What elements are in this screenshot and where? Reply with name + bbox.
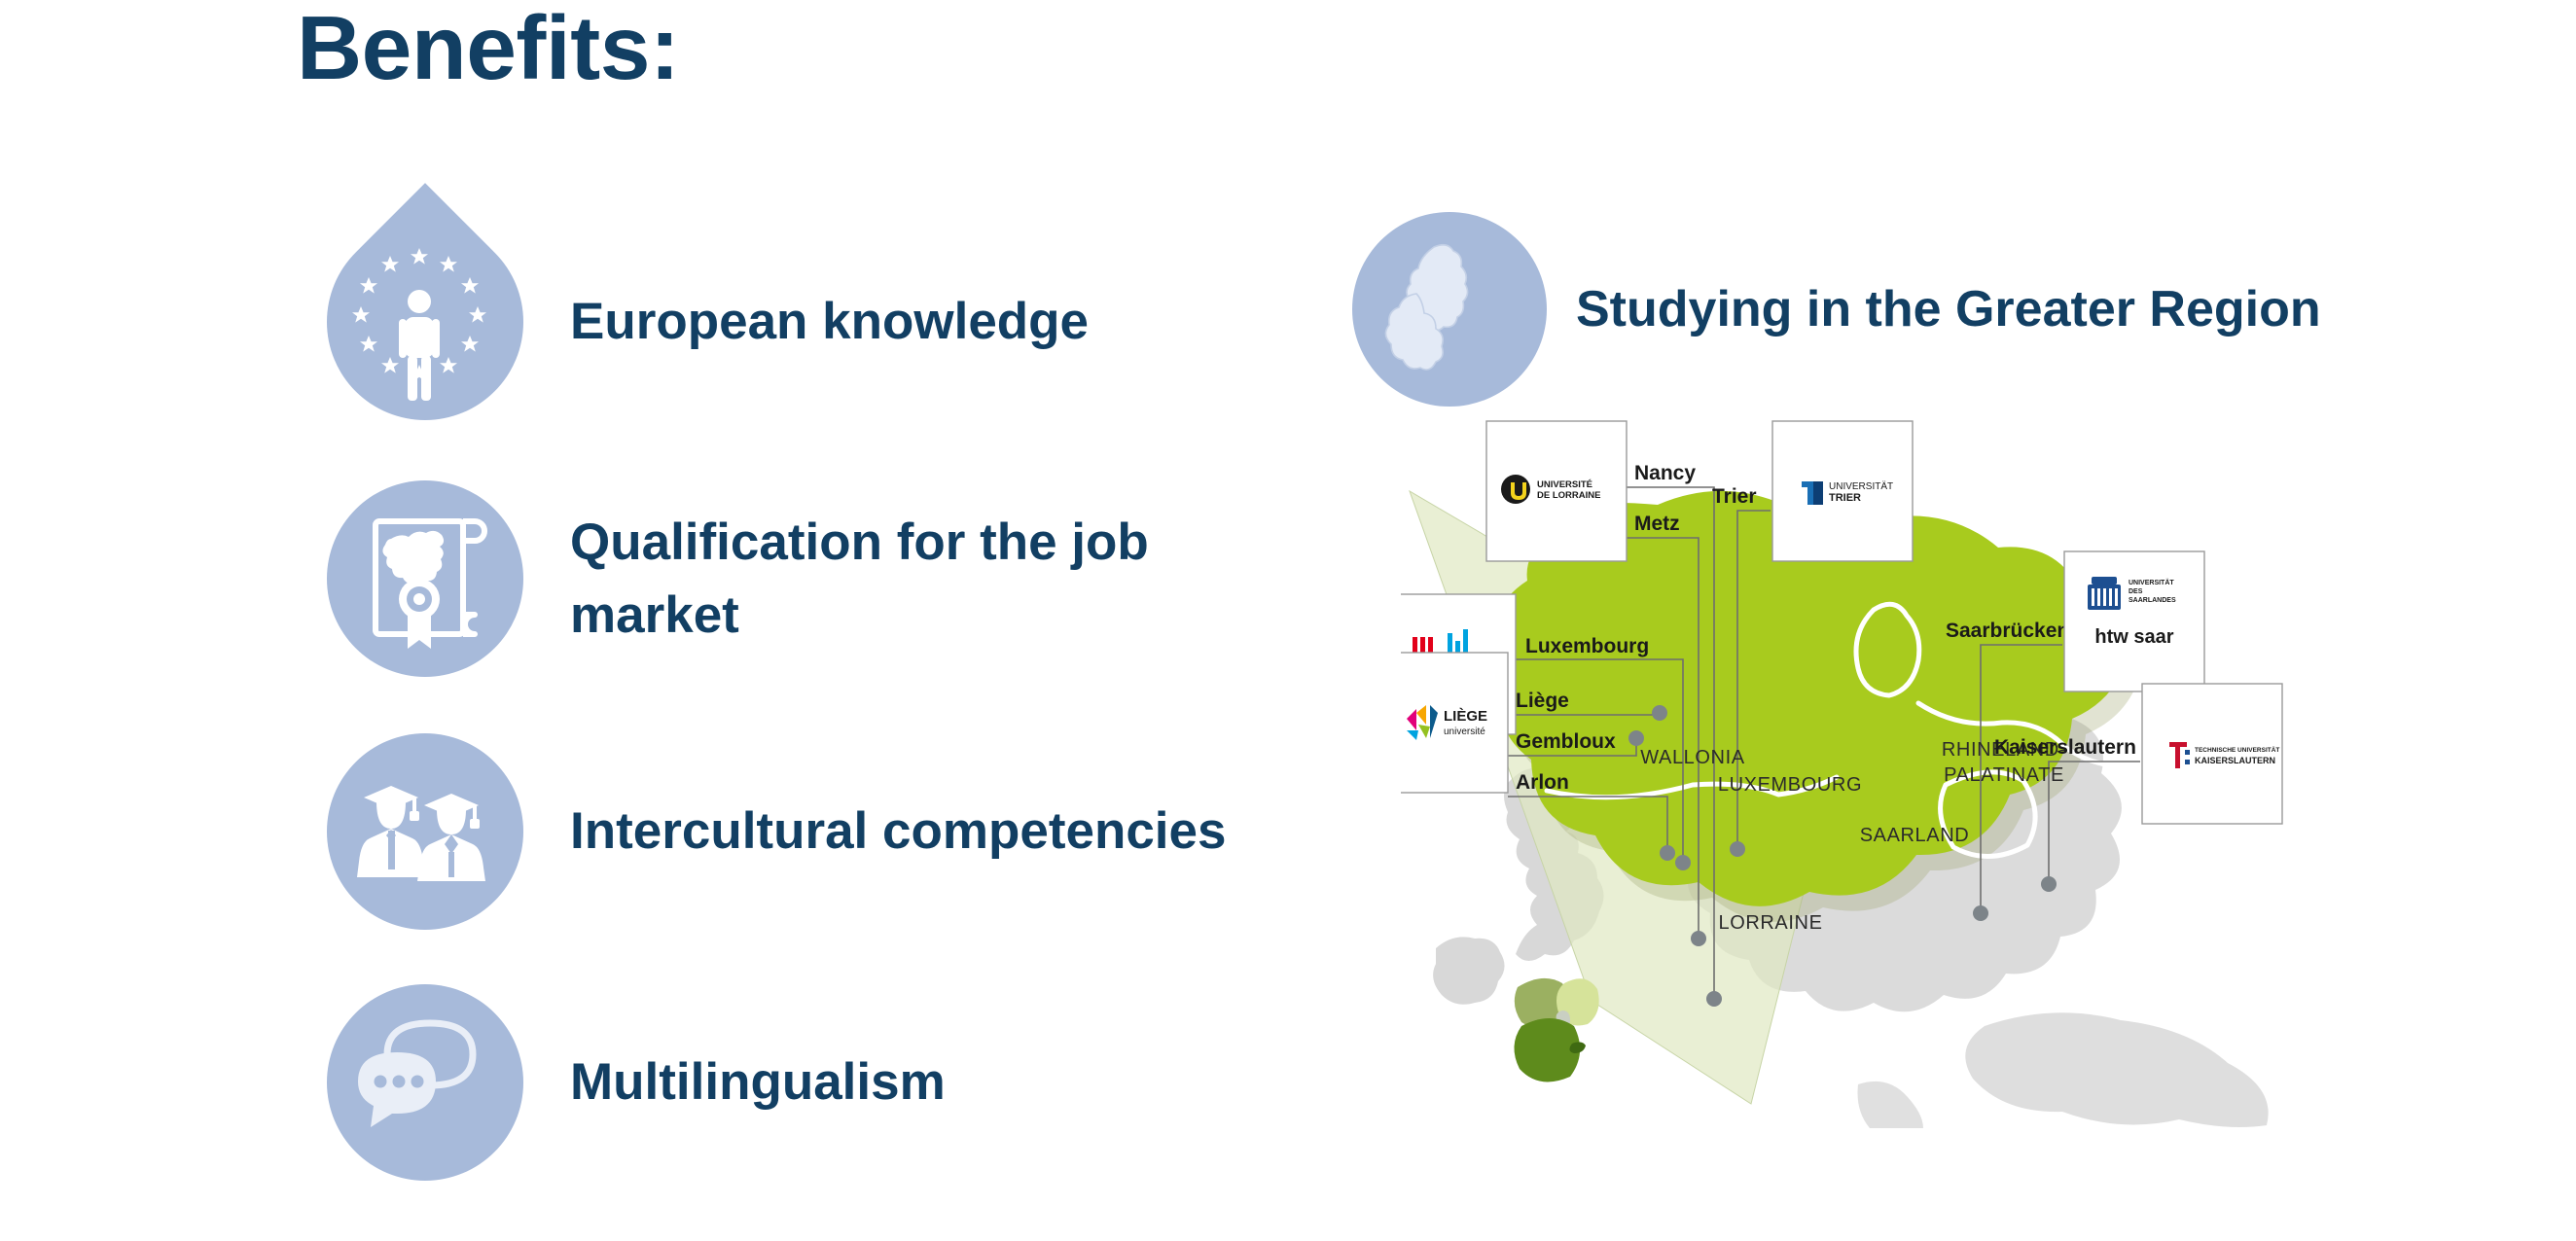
university-card-liege[interactable]: LIÈGE université <box>1401 653 1508 793</box>
university-card-saarland[interactable]: UNIVERSITÄT DES SAARLANDES htw saar <box>2064 551 2204 691</box>
right-column-header: Studying in the Greater Region <box>1352 212 2520 407</box>
city-label: Arlon <box>1516 771 1569 794</box>
benefits-list: European knowledge <box>327 224 1329 1241</box>
region-label: WALLONIA <box>1640 747 1744 768</box>
university-card-kaiserslautern[interactable]: TECHNISCHE UNIVERSITÄT KAISERSLAUTERN <box>2142 684 2282 824</box>
region-label: SAARLAND <box>1860 825 1970 846</box>
card-extra: htw saar <box>2094 626 2173 648</box>
card-line1: UNIVERSITÄT <box>1829 480 1893 492</box>
benefit-item-qualification: Qualification for the job market <box>327 480 1329 677</box>
city-label: Saarbrücken <box>1946 620 2069 642</box>
two-graduates-icon <box>327 733 523 930</box>
greater-region-map: WALLONIA LUXEMBOURG RHINELAND- PALATINAT… <box>1401 404 2520 1128</box>
speech-bubbles-icon <box>327 984 523 1181</box>
card-line1: LIÈGE <box>1444 708 1487 725</box>
benefit-label: Intercultural competencies <box>570 795 1226 868</box>
card-line2: DE LORRAINE <box>1537 490 1600 501</box>
region-label: LORRAINE <box>1718 912 1822 934</box>
card-line1: UNIVERSITÄT <box>2129 579 2174 586</box>
city-label: Trier <box>1712 485 1757 508</box>
right-column: Studying in the Greater Region <box>1352 212 2520 407</box>
university-card-trier[interactable]: UNIVERSITÄT TRIER <box>1772 421 1913 561</box>
slide-root: Benefits: <box>0 0 2576 1135</box>
benefit-item-multilingualism: Multilingualism <box>327 984 1329 1181</box>
benefit-item-european-knowledge: European knowledge <box>327 224 1329 420</box>
region-label: LUXEMBOURG <box>1718 774 1862 796</box>
eu-stars-person-pin-icon <box>327 224 523 420</box>
page-title: Benefits: <box>297 0 679 100</box>
card-line2: TRIER <box>1829 492 1861 504</box>
benefit-label: Multilingualism <box>570 1046 946 1118</box>
region-label: PALATINATE <box>1944 764 2064 786</box>
card-line2: KAISERSLAUTERN <box>2195 756 2275 765</box>
card-line3: SAARLANDES <box>2129 597 2176 604</box>
city-label: Nancy <box>1634 462 1696 484</box>
card-line2: université <box>1444 727 1485 737</box>
city-label: Luxembourg <box>1525 635 1649 657</box>
map-inset-greater-region <box>1514 978 1598 1082</box>
diploma-certificate-icon <box>327 480 523 677</box>
card-line1: UNIVERSITÉ <box>1537 479 1592 490</box>
card-line1: TECHNISCHE UNIVERSITÄT <box>2195 746 2279 754</box>
city-label: Metz <box>1634 513 1680 535</box>
university-card-lorraine[interactable]: UNIVERSITÉ DE LORRAINE <box>1486 421 1627 561</box>
benefit-item-intercultural: Intercultural competencies <box>327 733 1329 930</box>
card-line2: DES <box>2129 588 2143 595</box>
greater-region-map-circle-icon <box>1352 212 1547 407</box>
right-column-title: Studying in the Greater Region <box>1576 280 2321 338</box>
city-label: Liège <box>1516 690 1569 712</box>
city-label: Gembloux <box>1516 730 1616 753</box>
benefit-label: European knowledge <box>570 285 1089 358</box>
benefit-label: Qualification for the job market <box>570 506 1232 653</box>
city-label: Kaiserslautern <box>1994 736 2136 759</box>
